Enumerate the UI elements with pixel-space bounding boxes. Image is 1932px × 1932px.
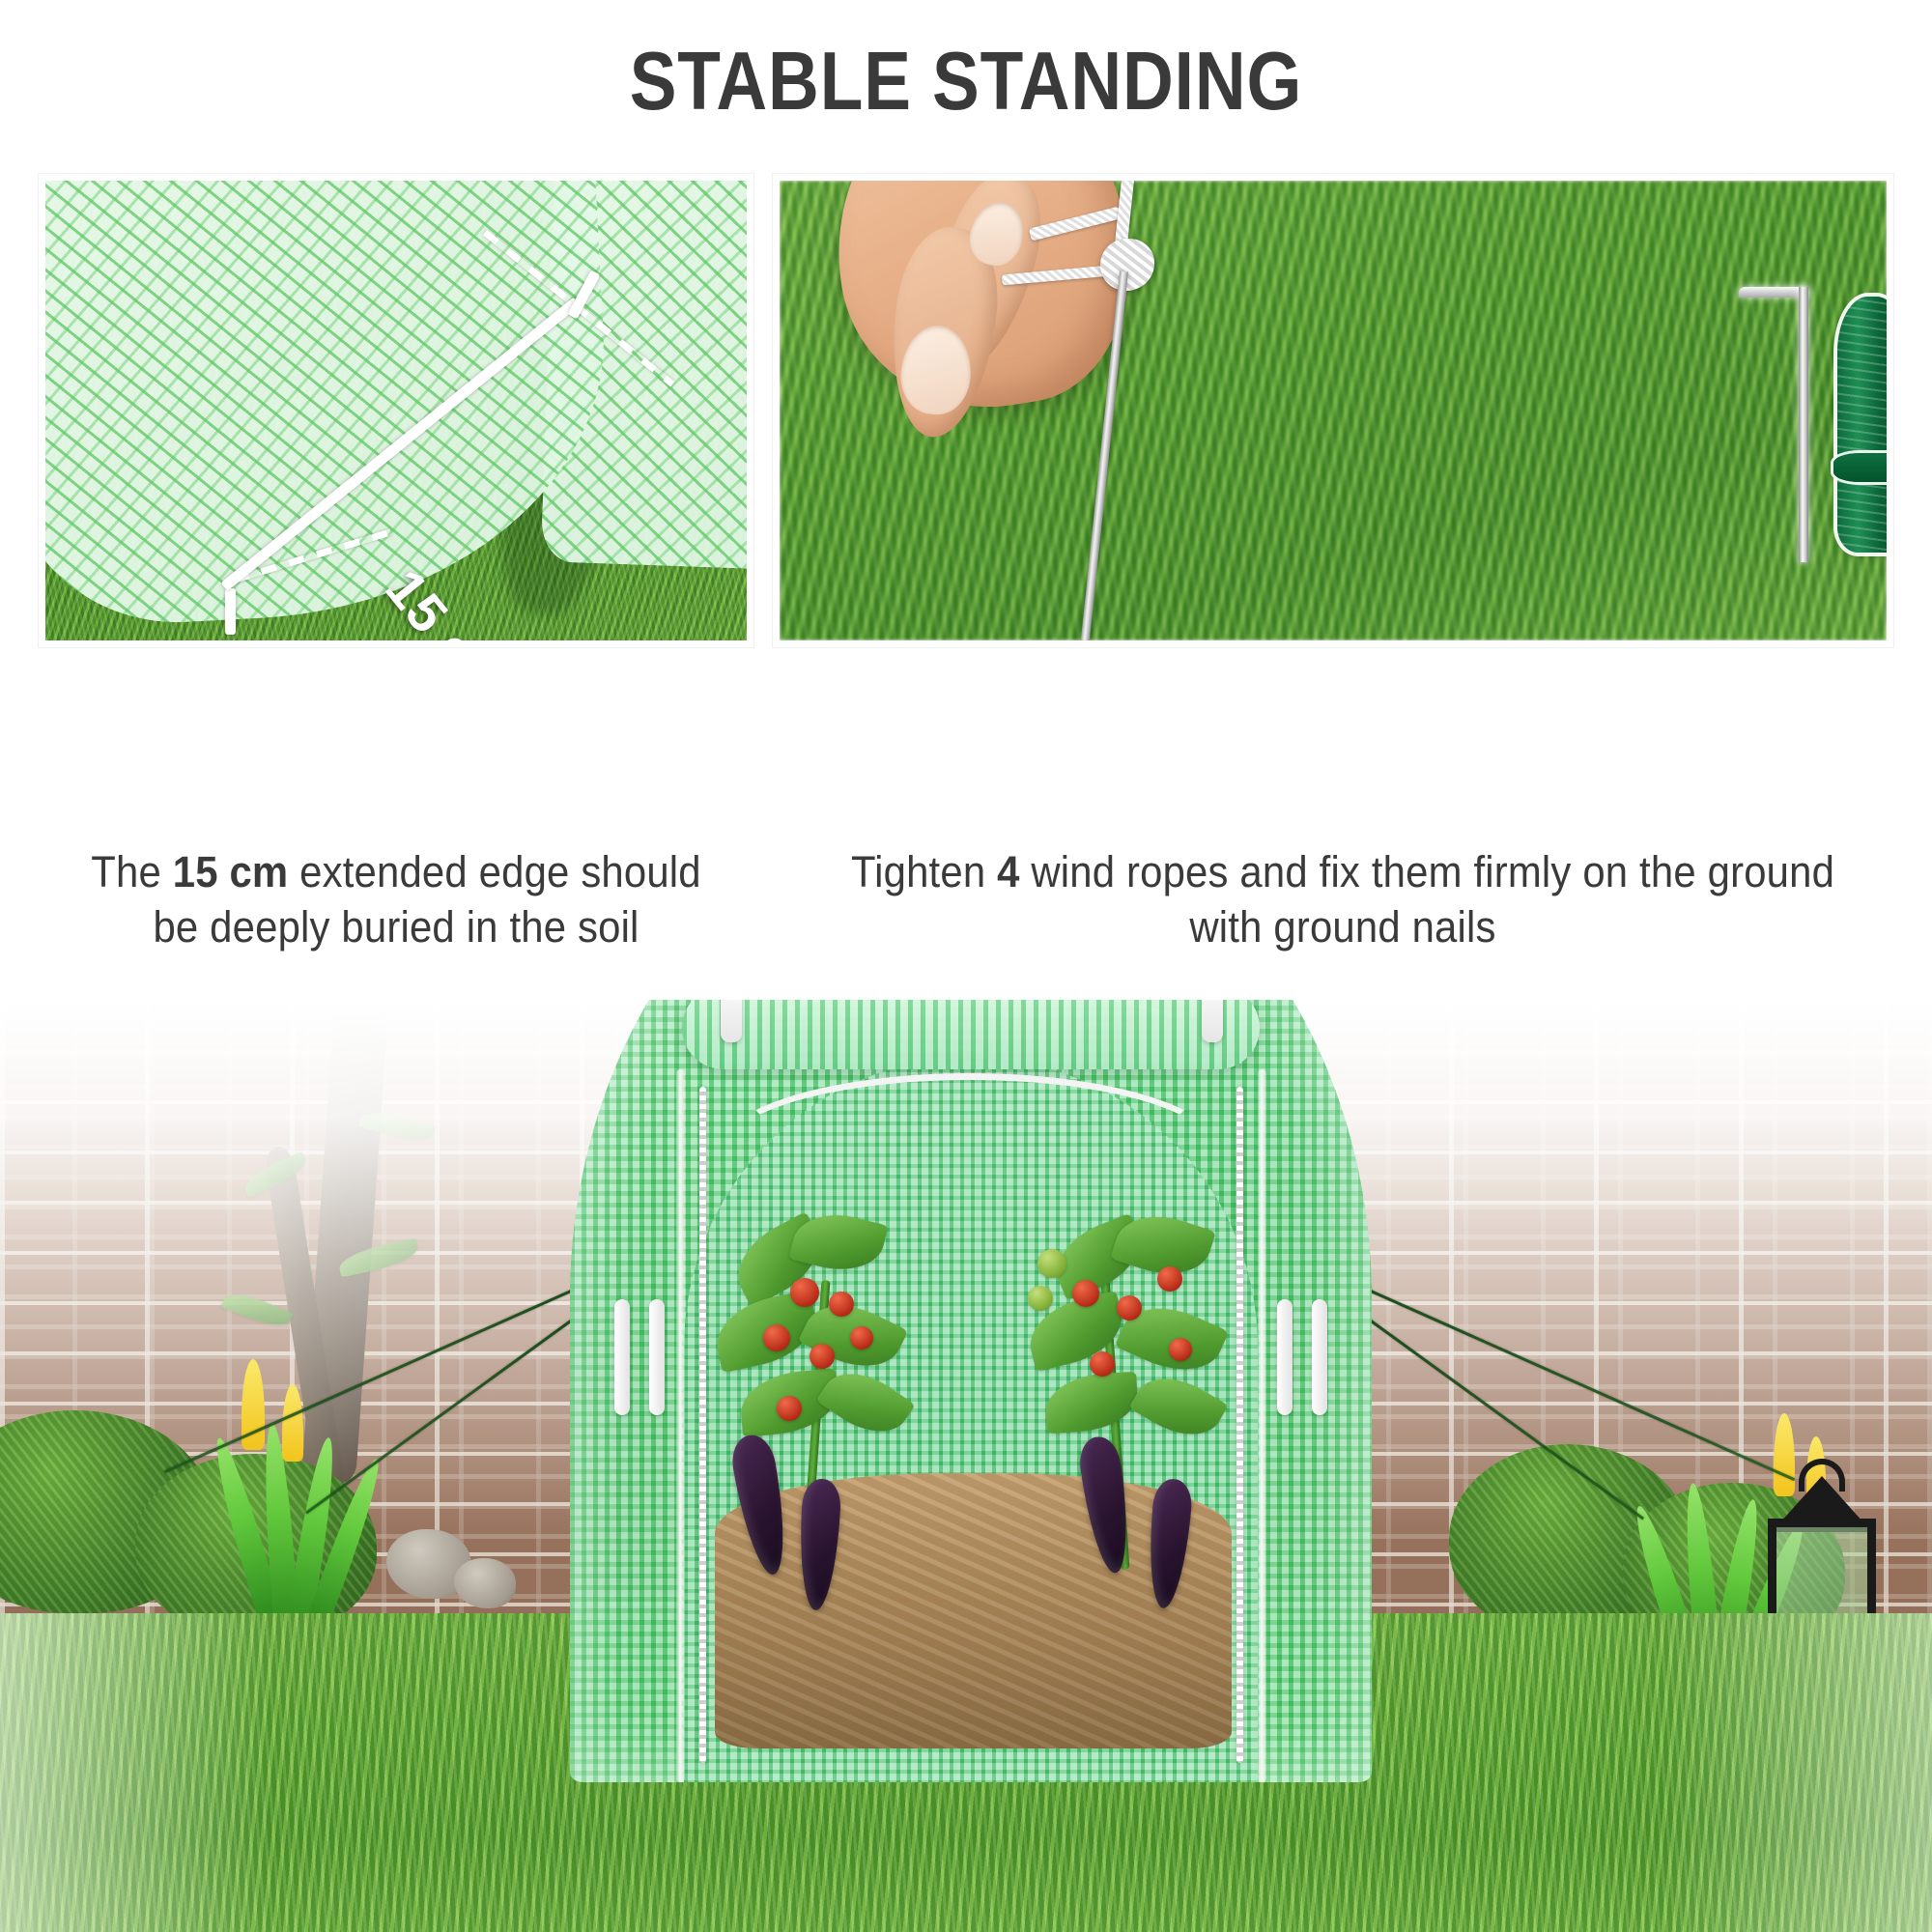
tomato-fruit [763, 1324, 790, 1351]
wind-rope-bundle [1837, 297, 1893, 553]
tomato-fruit [1169, 1338, 1192, 1361]
door-handle-right [1277, 1299, 1293, 1415]
door-zip-left [699, 1087, 706, 1763]
caption-left-before: The [91, 847, 172, 896]
caption-right: Tighten 4 wind ropes and fix them firmly… [831, 845, 1855, 954]
tomato-fruit-green [1037, 1249, 1066, 1278]
page-title: STABLE STANDING [630, 35, 1303, 129]
tomato-fruit [777, 1396, 802, 1421]
door-handle-left [614, 1299, 630, 1415]
door-frame-left [676, 1069, 685, 1782]
door-arc-zip [719, 1073, 1221, 1228]
panel-wind-rope-photo: x4 [773, 174, 1893, 647]
greenhouse [570, 1000, 1372, 1782]
caption-left: The 15 cm extended edge should be deeply… [64, 845, 728, 954]
title-bar: STABLE STANDING [0, 0, 1932, 164]
door-handle-right-2 [1312, 1299, 1327, 1415]
door-handle-left-2 [649, 1299, 665, 1415]
door-zip-right [1236, 1087, 1243, 1763]
flap-clip-right [1202, 1000, 1223, 1042]
tomato-fruit [850, 1326, 873, 1350]
tomato-fruit [790, 1278, 819, 1307]
tomato-fruit [1090, 1351, 1115, 1377]
caption-right-after: wind ropes and fix them firmly on the gr… [1020, 847, 1834, 952]
tomato-fruit [1117, 1295, 1142, 1321]
hero-greenhouse-photo [0, 1000, 1932, 1932]
tomato-fruit [810, 1344, 835, 1369]
flap-clip-left [721, 1000, 742, 1042]
ground-nail-accessory [1799, 287, 1808, 562]
caption-left-bold: 15 cm [173, 847, 289, 896]
rolled-window-flap [682, 1000, 1260, 1069]
tomato-fruit-green [1028, 1286, 1053, 1311]
panel-extended-edge-photo: 15 cm [39, 174, 753, 647]
door-frame-right [1258, 1069, 1266, 1782]
dimension-end-tick-left [225, 588, 236, 635]
tomato-fruit [829, 1292, 854, 1317]
rock [454, 1558, 516, 1608]
tomato-fruit [1072, 1280, 1099, 1307]
caption-right-before: Tighten [851, 847, 997, 896]
wind-rope-bundle-tie [1833, 453, 1893, 482]
tomato-fruit [1157, 1266, 1182, 1292]
caption-right-bold: 4 [997, 847, 1019, 896]
